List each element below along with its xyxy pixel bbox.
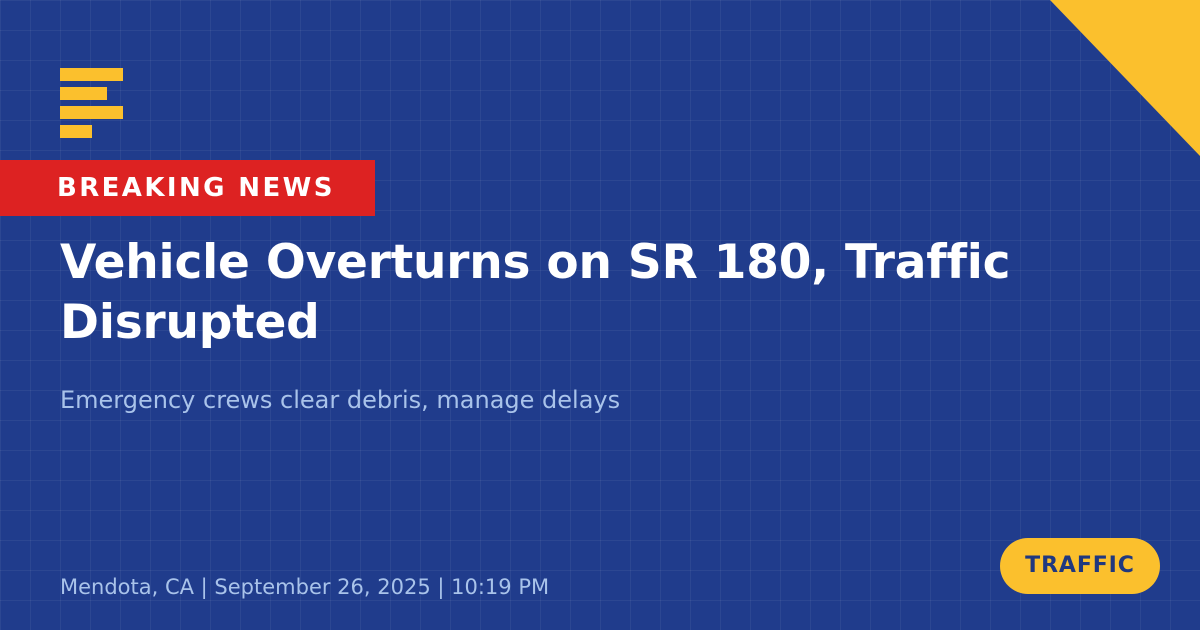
subtitle: Emergency crews clear debris, manage del…: [60, 384, 1040, 416]
logo-bar-1: [60, 68, 123, 81]
breaking-news-label: BREAKING NEWS: [57, 175, 335, 201]
yellow-corner-triangle-decoration: [1050, 0, 1200, 156]
logo-bar-3: [60, 106, 123, 119]
category-badge: TRAFFIC: [1000, 538, 1160, 594]
breaking-news-card: BREAKING NEWS Vehicle Overturns on SR 18…: [0, 0, 1200, 630]
meta-line: Mendota, CA | September 26, 2025 | 10:19…: [60, 574, 549, 600]
breaking-news-banner: BREAKING NEWS: [0, 160, 375, 216]
logo-bar-4: [60, 125, 92, 138]
headline: Vehicle Overturns on SR 180, Traffic Dis…: [60, 233, 1120, 353]
category-badge-label: TRAFFIC: [1025, 555, 1135, 577]
brand-logo: [60, 68, 123, 138]
logo-bar-2: [60, 87, 107, 100]
